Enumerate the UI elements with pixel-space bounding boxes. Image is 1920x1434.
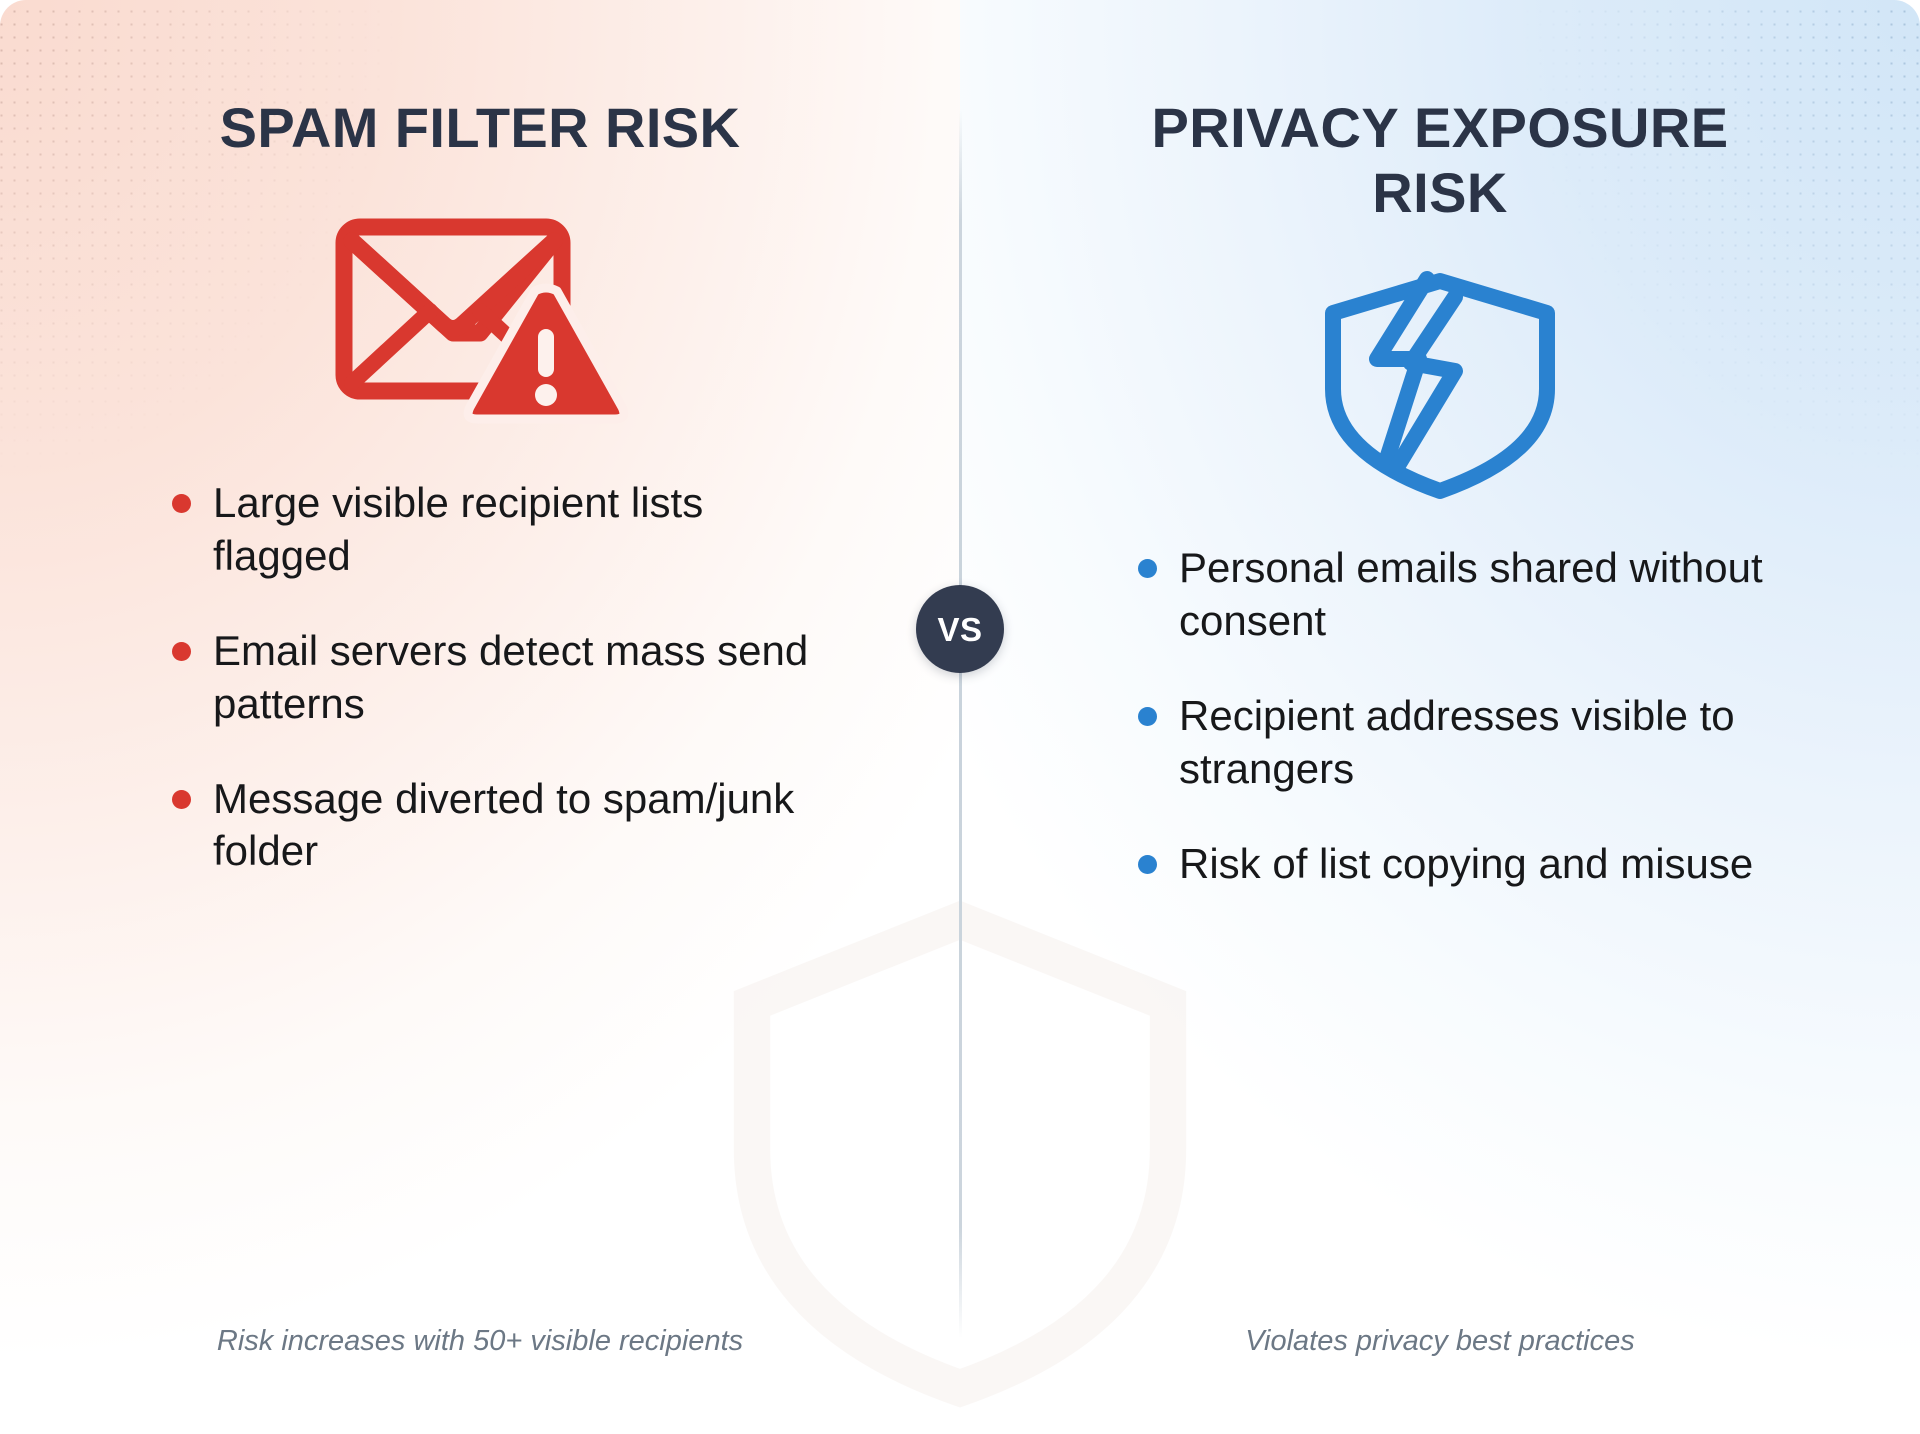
bullet-dot-icon [1138, 855, 1157, 874]
envelope-warning-icon [330, 205, 630, 435]
bullet-text: Email servers detect mass send patterns [213, 625, 812, 731]
bullet-dot-icon [172, 790, 191, 809]
list-item: Large visible recipient lists flagged [172, 477, 812, 583]
bullet-dot-icon [172, 494, 191, 513]
comparison-infographic: VS SPAM FILTER RISK [0, 0, 1920, 1434]
list-item: Personal emails shared without consent [1138, 542, 1778, 648]
columns-container: SPAM FILTER RISK [0, 0, 1920, 1434]
bullet-text: Large visible recipient lists flagged [213, 477, 812, 583]
list-item: Recipient addresses visible to strangers [1138, 690, 1778, 796]
right-footnote: Violates privacy best practices [960, 1325, 1920, 1358]
bullet-text: Personal emails shared without consent [1179, 542, 1778, 648]
left-bullet-list: Large visible recipient lists flagged Em… [172, 477, 812, 878]
privacy-exposure-risk-column: PRIVACY EXPOSURE RISK Personal emails sh… [960, 0, 1920, 1434]
bullet-text: Message diverted to spam/junk folder [213, 773, 812, 879]
left-column-title: SPAM FILTER RISK [220, 96, 741, 161]
bullet-dot-icon [1138, 707, 1157, 726]
right-column-title: PRIVACY EXPOSURE RISK [1120, 96, 1760, 226]
bullet-dot-icon [1138, 559, 1157, 578]
spam-filter-risk-column: SPAM FILTER RISK [0, 0, 960, 1434]
bullet-dot-icon [172, 642, 191, 661]
broken-shield-icon [1315, 270, 1565, 500]
vs-badge: VS [916, 585, 1004, 673]
vs-label: VS [937, 613, 982, 646]
bullet-text: Recipient addresses visible to strangers [1179, 690, 1778, 796]
list-item: Email servers detect mass send patterns [172, 625, 812, 731]
list-item: Message diverted to spam/junk folder [172, 773, 812, 879]
right-bullet-list: Personal emails shared without consent R… [1138, 542, 1778, 891]
list-item: Risk of list copying and misuse [1138, 838, 1778, 891]
left-footnote: Risk increases with 50+ visible recipien… [0, 1325, 960, 1358]
bullet-text: Risk of list copying and misuse [1179, 838, 1753, 891]
